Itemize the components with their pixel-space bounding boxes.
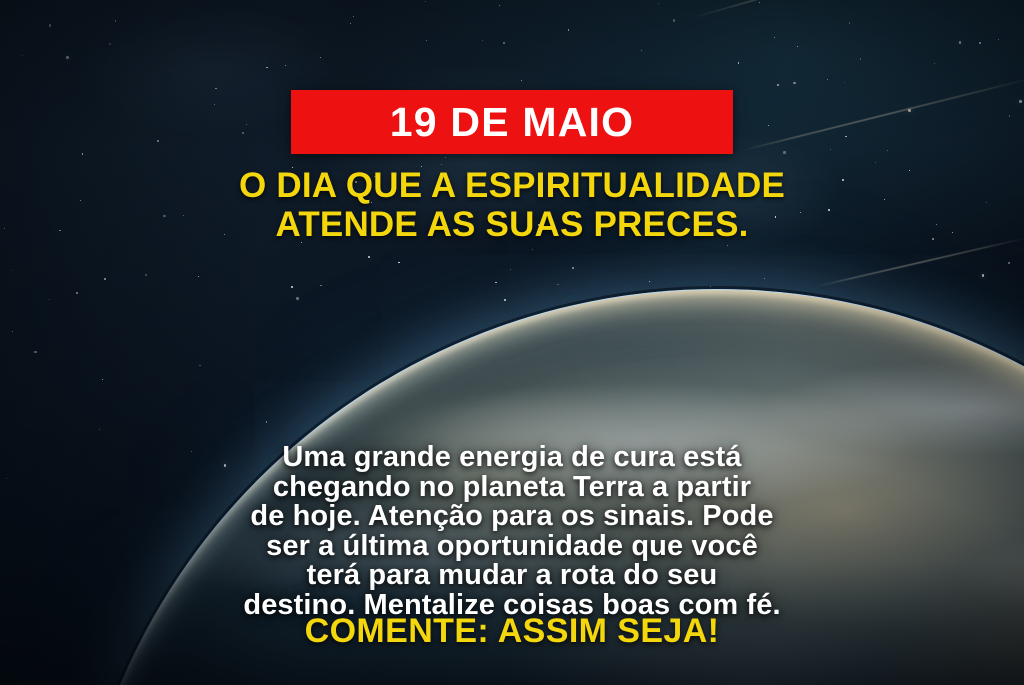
body-line-1: Uma grande energia de cura está	[28, 443, 996, 473]
body-line-2: chegando no planeta Terra a partir	[28, 473, 996, 503]
headline-line-1: O DIA QUE A ESPIRITUALIDADE	[40, 166, 984, 205]
body-line-5: terá para mudar a rota do seu	[28, 561, 996, 591]
poster-content: 19 DE MAIO O DIA QUE A ESPIRITUALIDADE A…	[0, 0, 1024, 685]
date-banner-text: 19 DE MAIO	[390, 102, 634, 143]
body-paragraph: Uma grande energia de cura está chegando…	[0, 443, 1024, 620]
poster-image: 19 DE MAIO O DIA QUE A ESPIRITUALIDADE A…	[0, 0, 1024, 685]
body-line-4: ser a última oportunidade que você	[28, 532, 996, 562]
headline: O DIA QUE A ESPIRITUALIDADE ATENDE AS SU…	[0, 166, 1024, 244]
date-banner: 19 DE MAIO	[291, 90, 733, 154]
call-to-action-text: COMENTE: ASSIM SEJA!	[0, 612, 1024, 651]
body-line-3: de hoje. Atenção para os sinais. Pode	[28, 502, 996, 532]
headline-line-2: ATENDE AS SUAS PRECES.	[40, 205, 984, 244]
